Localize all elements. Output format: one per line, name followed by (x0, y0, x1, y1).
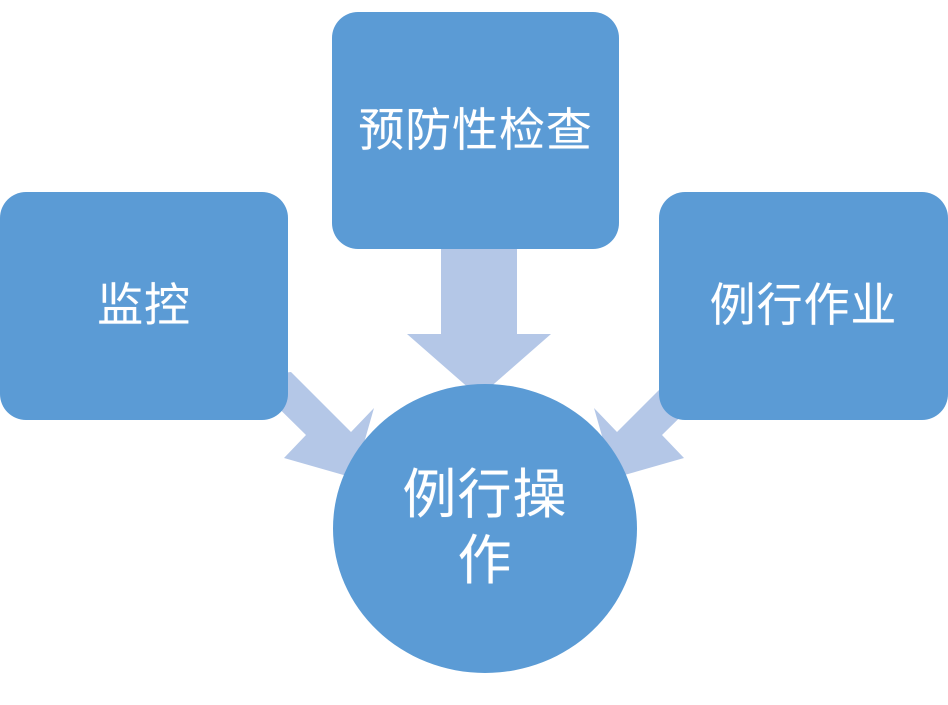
arrow-preventive-to-center-icon (407, 248, 551, 397)
node-preventive-inspection-label: 预防性检查 (358, 105, 593, 157)
node-preventive-inspection[interactable]: 预防性检查 (332, 12, 619, 249)
node-routine-tasks-label: 例行作业 (710, 280, 898, 332)
diagram-canvas: 监控 预防性检查 例行作业 例行操作 (0, 0, 948, 705)
node-monitoring-label: 监控 (97, 280, 191, 332)
node-monitoring[interactable]: 监控 (0, 192, 288, 420)
node-routine-operations[interactable]: 例行操作 (333, 384, 637, 673)
node-routine-tasks[interactable]: 例行作业 (659, 192, 948, 420)
node-routine-operations-label: 例行操作 (391, 463, 579, 595)
